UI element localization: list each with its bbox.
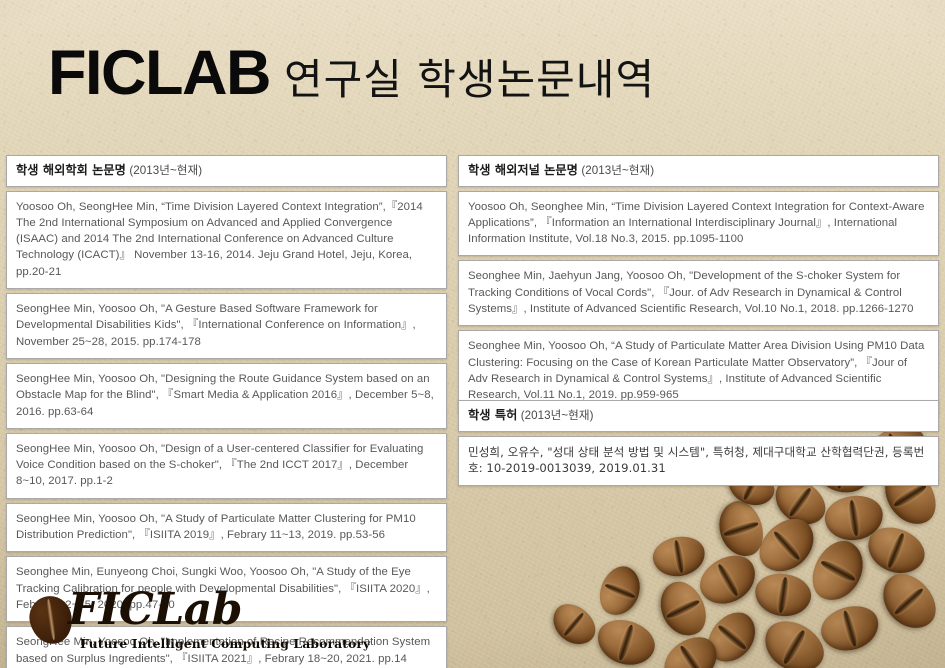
patents-column: 학생 특허 (2013년~현재) 민성희, 오유수, "성대 상태 분석 방법 … bbox=[458, 400, 939, 486]
conference-section-header: 학생 해외학회 논문명 (2013년~현재) bbox=[6, 155, 447, 187]
logo-wordmark: FICLab bbox=[68, 588, 242, 632]
list-item: Yoosoo Oh, Seonghee Min, “Time Division … bbox=[458, 191, 939, 257]
list-item: SeongHee Min, Yoosoo Oh, "Design of a Us… bbox=[6, 433, 447, 499]
journal-papers-column: 학생 해외저널 논문명 (2013년~현재) Yoosoo Oh, Seongh… bbox=[458, 155, 939, 413]
conference-header-title: 학생 해외학회 논문명 bbox=[16, 163, 126, 177]
logo-tagline: Future Intelligent Computing Laboratory bbox=[80, 636, 370, 651]
list-item: SeongHee Min, Yoosoo Oh, "A Gesture Base… bbox=[6, 293, 447, 359]
journal-section-header: 학생 해외저널 논문명 (2013년~현재) bbox=[458, 155, 939, 187]
list-item: Seonghee Min, Jaehyun Jang, Yoosoo Oh, "… bbox=[458, 260, 939, 326]
conference-header-range: (2013년~현재) bbox=[129, 164, 202, 177]
page-title: FICLAB 연구실 학생논문내역 bbox=[48, 42, 655, 105]
slide-canvas: FICLAB 연구실 학생논문내역 학생 해외학회 논문명 (2013년~현재)… bbox=[0, 0, 945, 668]
journal-header-range: (2013년~현재) bbox=[581, 164, 654, 177]
journal-header-title: 학생 해외저널 논문명 bbox=[468, 163, 578, 177]
list-item: Yoosoo Oh, SeongHee Min, “Time Division … bbox=[6, 191, 447, 289]
patent-section-header: 학생 특허 (2013년~현재) bbox=[458, 400, 939, 432]
list-item: 민성희, 오유수, "성대 상태 분석 방법 및 시스템", 특허청, 제대구대… bbox=[458, 436, 939, 487]
page-title-sub: 연구실 학생논문내역 bbox=[284, 59, 655, 101]
patent-header-title: 학생 특허 bbox=[468, 408, 517, 422]
patent-header-range: (2013년~현재) bbox=[521, 409, 594, 422]
list-item: SeongHee Min, Yoosoo Oh, "A Study of Par… bbox=[6, 503, 447, 553]
list-item: SeongHee Min, Yoosoo Oh, "Designing the … bbox=[6, 363, 447, 429]
page-title-main: FICLAB bbox=[48, 42, 270, 105]
ficlab-logo: FICLab Future Intelligent Computing Labo… bbox=[24, 590, 276, 656]
